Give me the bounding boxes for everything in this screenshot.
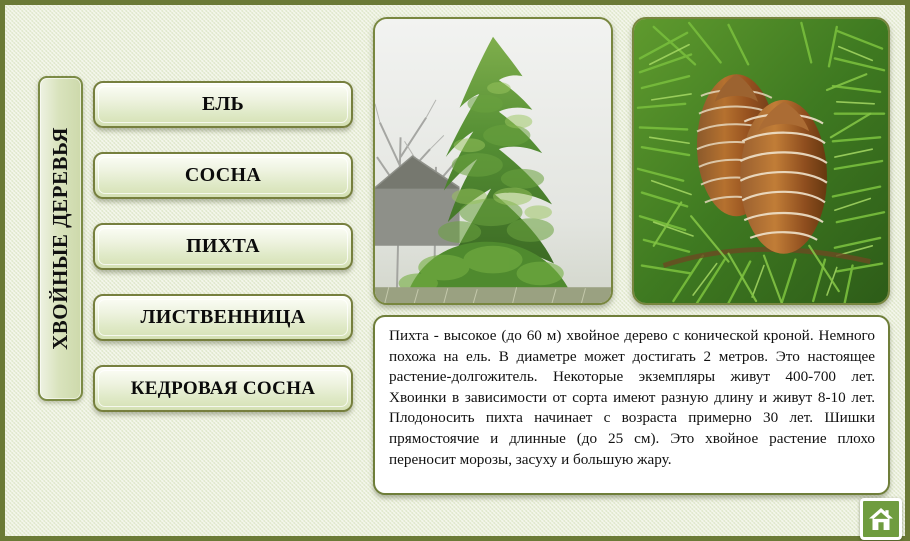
menu-item-el[interactable]: ЕЛЬ <box>93 81 353 128</box>
section-title-panel: ХВОЙНЫЕ ДЕРЕВЬЯ <box>38 76 83 401</box>
fir-tree-photo <box>373 17 613 305</box>
menu-item-kedrovaya-sosna[interactable]: КЕДРОВАЯ СОСНА <box>93 365 353 412</box>
section-title-text: ХВОЙНЫЕ ДЕРЕВЬЯ <box>48 127 73 350</box>
description-panel: Пихта - высокое (до 60 м) хвойное дерево… <box>373 315 890 495</box>
menu-item-label: ПИХТА <box>186 235 260 258</box>
menu-item-label: КЕДРОВАЯ СОСНА <box>131 378 316 400</box>
tree-menu: ЕЛЬ СОСНА ПИХТА ЛИСТВЕННИЦА КЕДРОВАЯ СОС… <box>93 81 353 436</box>
menu-item-label: ЕЛЬ <box>202 93 244 116</box>
home-button[interactable] <box>860 498 902 540</box>
menu-item-label: СОСНА <box>185 164 261 187</box>
menu-item-listvennica[interactable]: ЛИСТВЕННИЦА <box>93 294 353 341</box>
menu-item-pihta[interactable]: ПИХТА <box>93 223 353 270</box>
slide-root: ХВОЙНЫЕ ДЕРЕВЬЯ ЕЛЬ СОСНА ПИХТА ЛИСТВЕНН… <box>0 0 910 541</box>
menu-item-sosna[interactable]: СОСНА <box>93 152 353 199</box>
fir-cones-photo <box>632 17 890 305</box>
description-text: Пихта - высокое (до 60 м) хвойное дерево… <box>389 326 875 470</box>
home-icon <box>868 507 894 531</box>
menu-item-label: ЛИСТВЕННИЦА <box>141 306 306 329</box>
